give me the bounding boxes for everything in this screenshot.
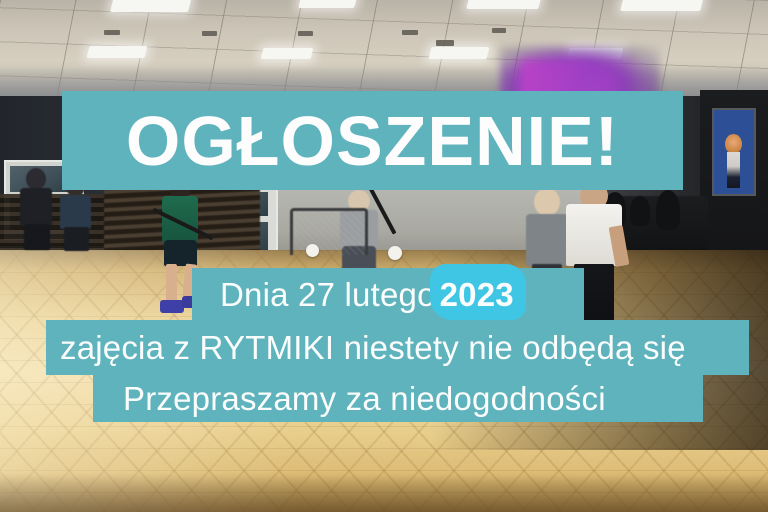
announcement-poster: OGŁOSZENIE! Dnia 27 lutego 2023 zajęcia … (0, 0, 768, 512)
ceiling-lamp-4 (620, 0, 704, 11)
ceiling-lamp-6 (261, 48, 314, 59)
wall-poster-portrait (712, 108, 756, 196)
ceiling-lamp-3 (466, 0, 541, 9)
ceiling-lamp-1 (110, 0, 192, 12)
legs (24, 224, 50, 250)
torso (20, 188, 52, 226)
ceiling-vent-5 (436, 40, 454, 46)
headline-text: OGŁOSZENIE! (126, 106, 619, 176)
legs (64, 227, 89, 251)
message-line-2-text: zajęcia z RYTMIKI niestety nie odbędą si… (60, 331, 686, 364)
ceiling-vent-3 (298, 31, 313, 36)
shoe-left (160, 300, 184, 313)
ceiling-vent-1 (104, 30, 120, 35)
ceiling-vent-2 (202, 31, 217, 36)
floorball-ball-2 (388, 246, 402, 260)
head (534, 188, 560, 216)
floor-bottom-shadow (0, 472, 768, 512)
ceiling-lamp-5 (87, 46, 148, 58)
head (26, 168, 46, 190)
equipment-bag-3 (656, 190, 680, 230)
floorball-ball-1 (306, 244, 319, 257)
torso (526, 214, 568, 266)
torso (60, 195, 91, 229)
headline-banner: OGŁOSZENIE! (62, 91, 683, 190)
ceiling-lamp-7 (429, 47, 490, 59)
message-line-1-prefix: Dnia 27 lutego (220, 278, 436, 311)
message-line-3-text: Przepraszamy za niedogodności (123, 382, 606, 415)
equipment-bag-2 (630, 196, 650, 226)
year-text: 2023 (440, 276, 514, 313)
message-line-1-banner: Dnia 27 lutego 2023 (192, 268, 584, 320)
leg-left (166, 264, 177, 304)
ceiling-vent-6 (492, 28, 506, 33)
ceiling-lamp-2 (298, 0, 357, 8)
floorball-goal (290, 208, 368, 255)
message-line-3-banner: Przepraszamy za niedogodności (93, 375, 703, 422)
year-highlight: 2023 (436, 278, 518, 311)
ceiling-vent-4 (402, 30, 418, 35)
shorts (164, 240, 197, 266)
background-photo-gym-hall (0, 0, 768, 512)
message-line-2-banner: zajęcia z RYTMIKI niestety nie odbędą si… (46, 320, 749, 375)
